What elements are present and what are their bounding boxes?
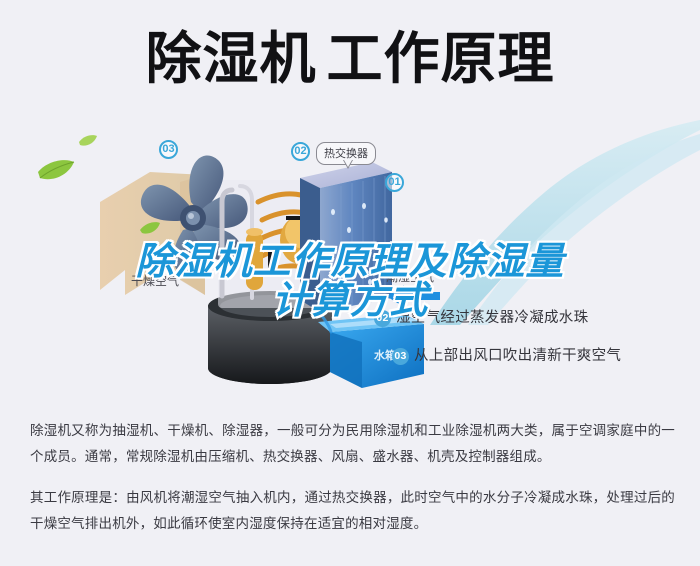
explanation-text-02: 湿空气经过蒸发器冷凝成水珠 xyxy=(396,310,588,326)
body-paragraph-2: 其工作原理是：由风机将潮湿空气抽入机内，通过热交换器，此时空气中的水分子冷凝成水… xyxy=(30,485,675,538)
badge-03-dry-air: 03 xyxy=(159,140,178,159)
body-paragraph-1: 除湿机又称为抽湿机、干燥机、除湿器，一般可分为民用除湿机和工业除湿机两大类，属于… xyxy=(30,418,675,471)
explanation-line-02: 02湿空气经过蒸发器冷凝成水珠 xyxy=(374,306,588,327)
humid-air-swoosh-shape xyxy=(430,120,700,325)
title-text: 除湿机工作原理 xyxy=(0,28,700,90)
explanation-text-03: 从上部出风口吹出清新干爽空气 xyxy=(414,348,621,364)
evaporator-coil-shape xyxy=(300,162,440,312)
badge-01-humid-air: 01 xyxy=(385,173,404,192)
title-segment-2: 工作原理 xyxy=(327,27,555,90)
badge-inline-02: 02 xyxy=(374,310,391,327)
title-segment-1: 除湿机 xyxy=(146,27,317,90)
label-dry-air: 干燥空气 xyxy=(131,272,179,289)
paragraph-spacer xyxy=(30,471,675,485)
badge-02-heat-exchanger: 02 xyxy=(291,142,310,161)
badge-inline-03: 03 xyxy=(392,348,409,365)
label-humid-air: 潮湿空气 xyxy=(386,268,434,285)
explanation-line-03: 03从上部出风口吹出清新干爽空气 xyxy=(392,344,621,365)
infographic-page: 除湿机工作原理 xyxy=(0,0,700,566)
page-title: 除湿机工作原理 xyxy=(0,28,700,90)
callout-pointer-icon xyxy=(343,160,353,169)
article-body: 除湿机又称为抽湿机、干燥机、除湿器，一般可分为民用除湿机和工业除湿机两大类，属于… xyxy=(30,418,675,537)
working-principle-diagram: 干燥空气 03 潮湿空气 01 02 热交换器 水箱 02湿空气经过蒸发器冷凝成… xyxy=(0,120,700,395)
